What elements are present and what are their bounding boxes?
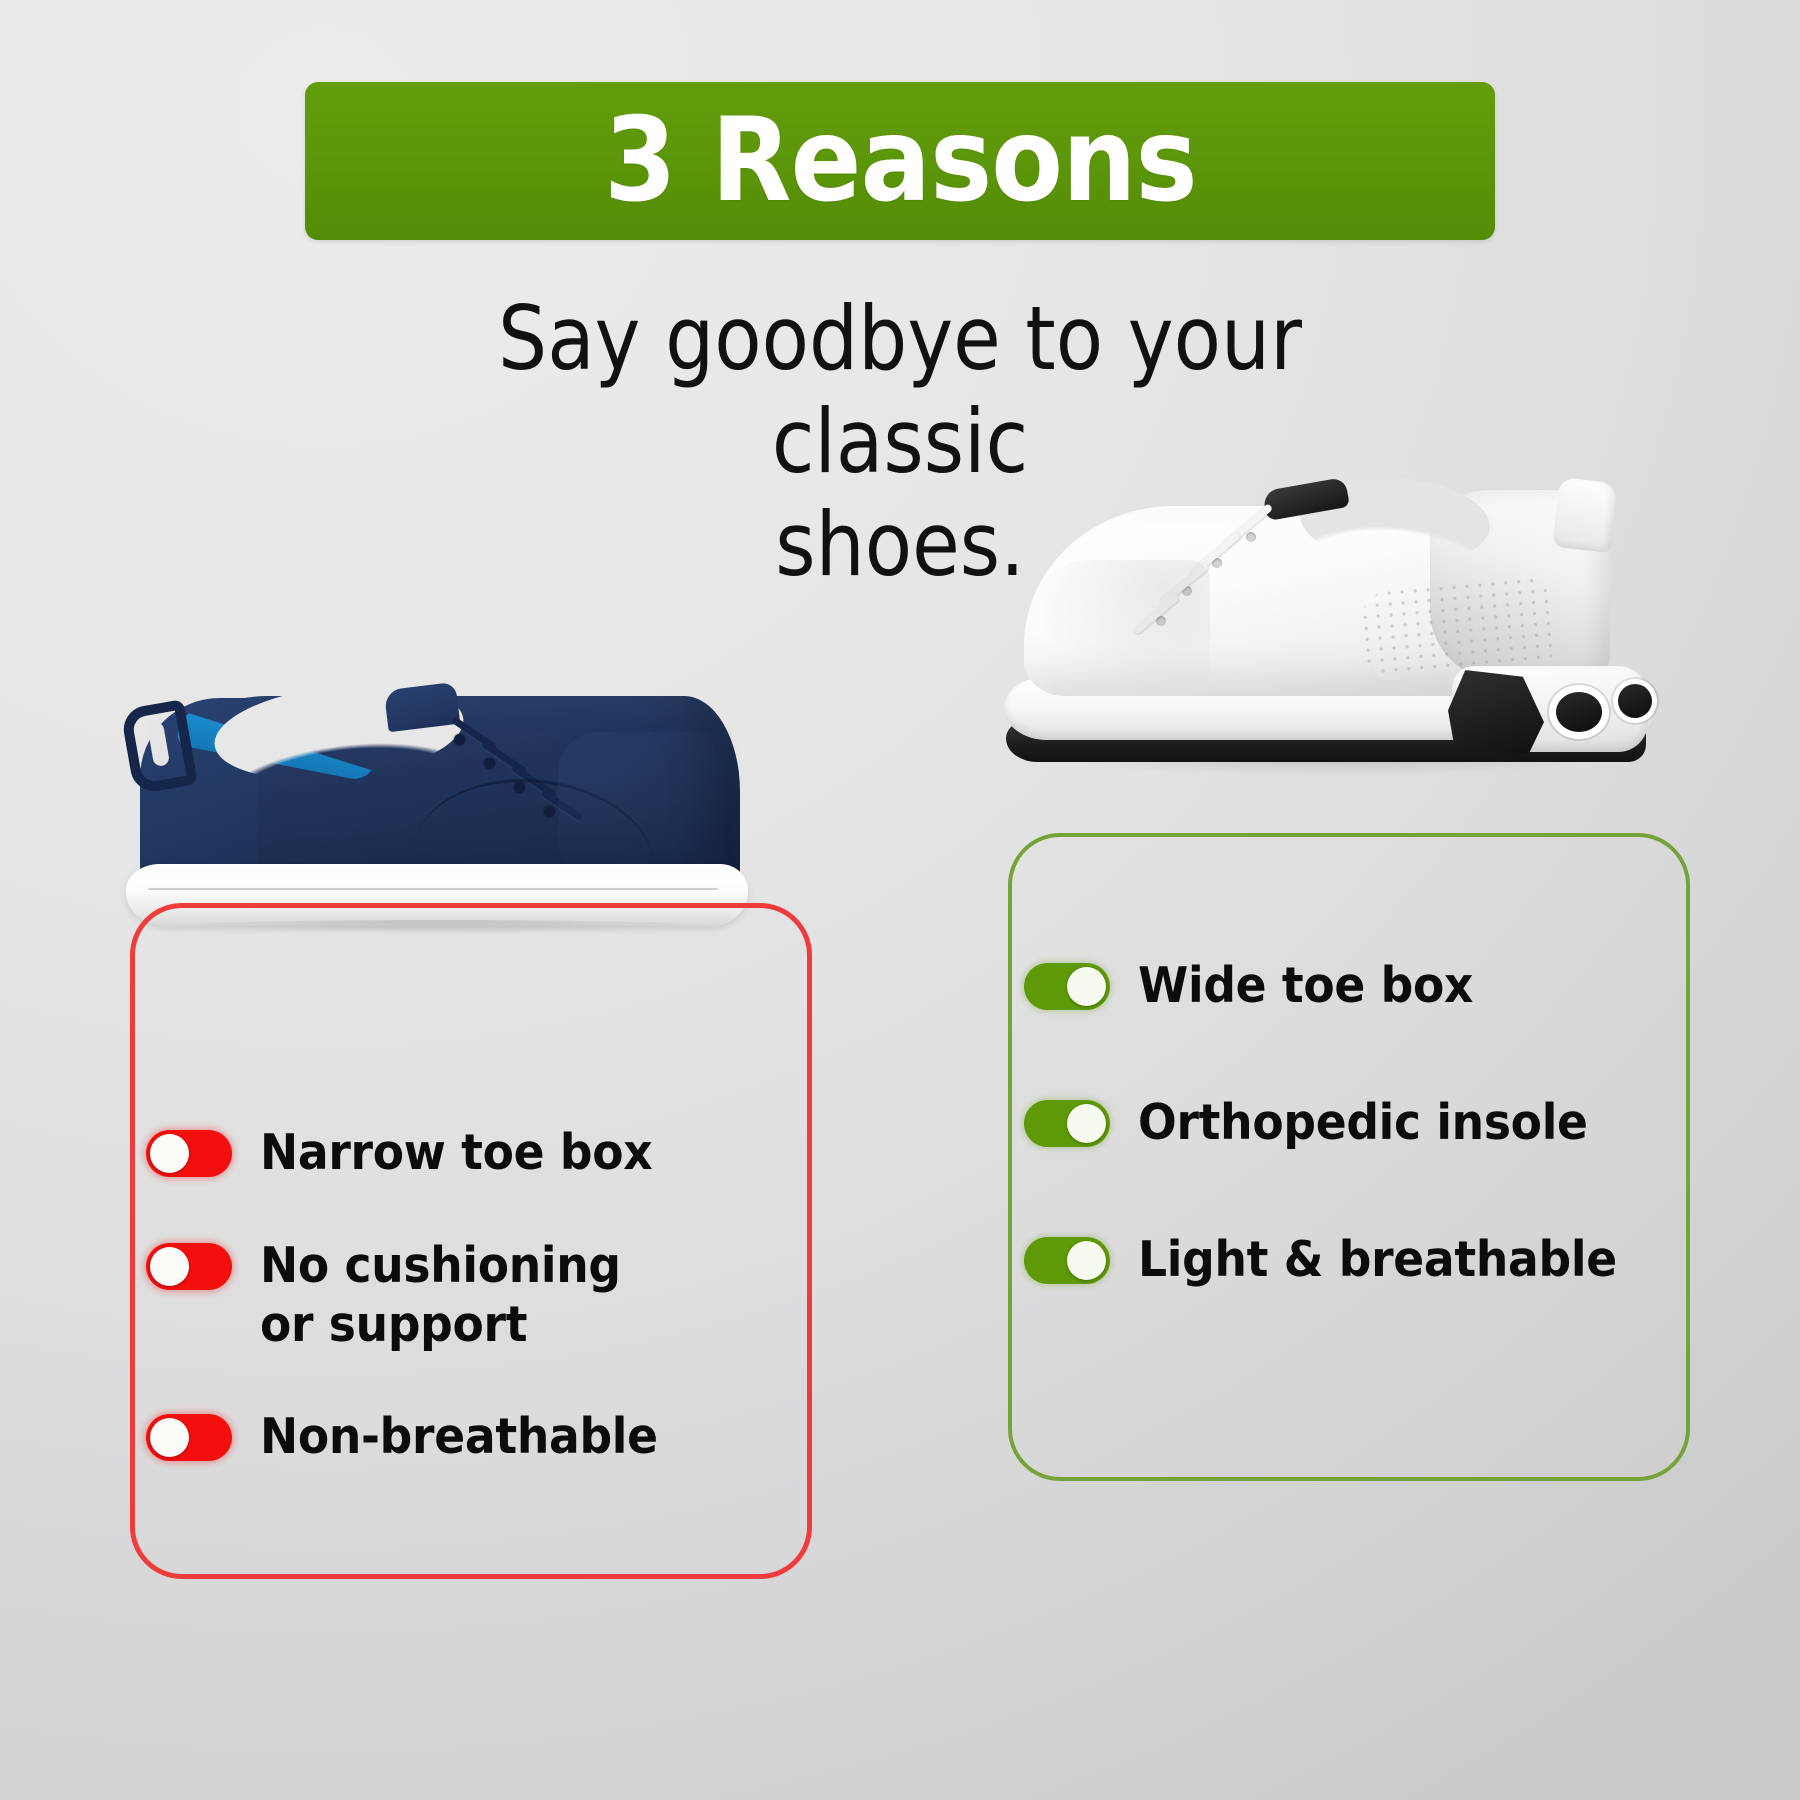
pros-feature-list: Wide toe box Orthopedic insole Light & b… <box>1024 955 1704 1365</box>
cons-feature-item: Narrow toe box <box>146 1122 806 1183</box>
pros-feature-label: Light & breathable <box>1138 1229 1617 1290</box>
toggle-switch-off-icon[interactable] <box>146 1414 232 1461</box>
cons-feature-list: Narrow toe box No cushioning or support … <box>146 1122 806 1519</box>
pros-feature-label: Orthopedic insole <box>1138 1092 1588 1153</box>
white-shoe-air-unit-port <box>1556 692 1602 732</box>
toggle-knob <box>150 1418 189 1457</box>
white-shoe-heel-tab <box>1553 477 1618 553</box>
toggle-switch-off-icon[interactable] <box>146 1243 232 1290</box>
cons-feature-item: No cushioning or support <box>146 1235 806 1355</box>
toggle-switch-on-icon[interactable] <box>1024 963 1110 1010</box>
white-orthopedic-sneaker-image <box>1000 470 1700 810</box>
toggle-knob <box>1067 1104 1106 1143</box>
pros-feature-item: Wide toe box <box>1024 955 1704 1016</box>
toggle-knob <box>150 1247 189 1286</box>
toggle-knob <box>150 1134 189 1173</box>
cons-feature-label: Narrow toe box <box>260 1122 652 1183</box>
white-shoe-toe-shading <box>1030 560 1210 690</box>
white-shoe-drop-shadow <box>1070 758 1590 774</box>
toggle-knob <box>1067 1241 1106 1280</box>
toggle-knob <box>1067 967 1106 1006</box>
navy-shoe-toe-shading <box>558 732 748 882</box>
subtitle-line-1: Say goodbye to your classic <box>372 288 1428 494</box>
navy-shoe-tongue <box>384 682 461 732</box>
white-shoe-air-unit-port <box>1618 684 1652 718</box>
page-title: 3 Reasons <box>604 103 1197 219</box>
cons-feature-label: No cushioning or support <box>260 1235 651 1355</box>
infographic-canvas: 3 Reasons Say goodbye to your classic sh… <box>0 0 1800 1800</box>
cons-feature-item: Non-breathable <box>146 1406 806 1467</box>
cons-feature-label: Non-breathable <box>260 1406 658 1467</box>
toggle-switch-on-icon[interactable] <box>1024 1237 1110 1284</box>
pros-feature-item: Orthopedic insole <box>1024 1092 1704 1153</box>
pros-feature-item: Light & breathable <box>1024 1229 1704 1290</box>
white-shoe-eyelet <box>1246 532 1256 542</box>
pros-feature-label: Wide toe box <box>1138 955 1473 1016</box>
header-banner: 3 Reasons <box>305 82 1495 240</box>
navy-shoe-sole-seam <box>148 888 718 890</box>
navy-shoe-eyelet <box>454 734 465 745</box>
toggle-switch-on-icon[interactable] <box>1024 1100 1110 1147</box>
navy-shoe-eyelet <box>484 758 495 769</box>
toggle-switch-off-icon[interactable] <box>146 1130 232 1177</box>
